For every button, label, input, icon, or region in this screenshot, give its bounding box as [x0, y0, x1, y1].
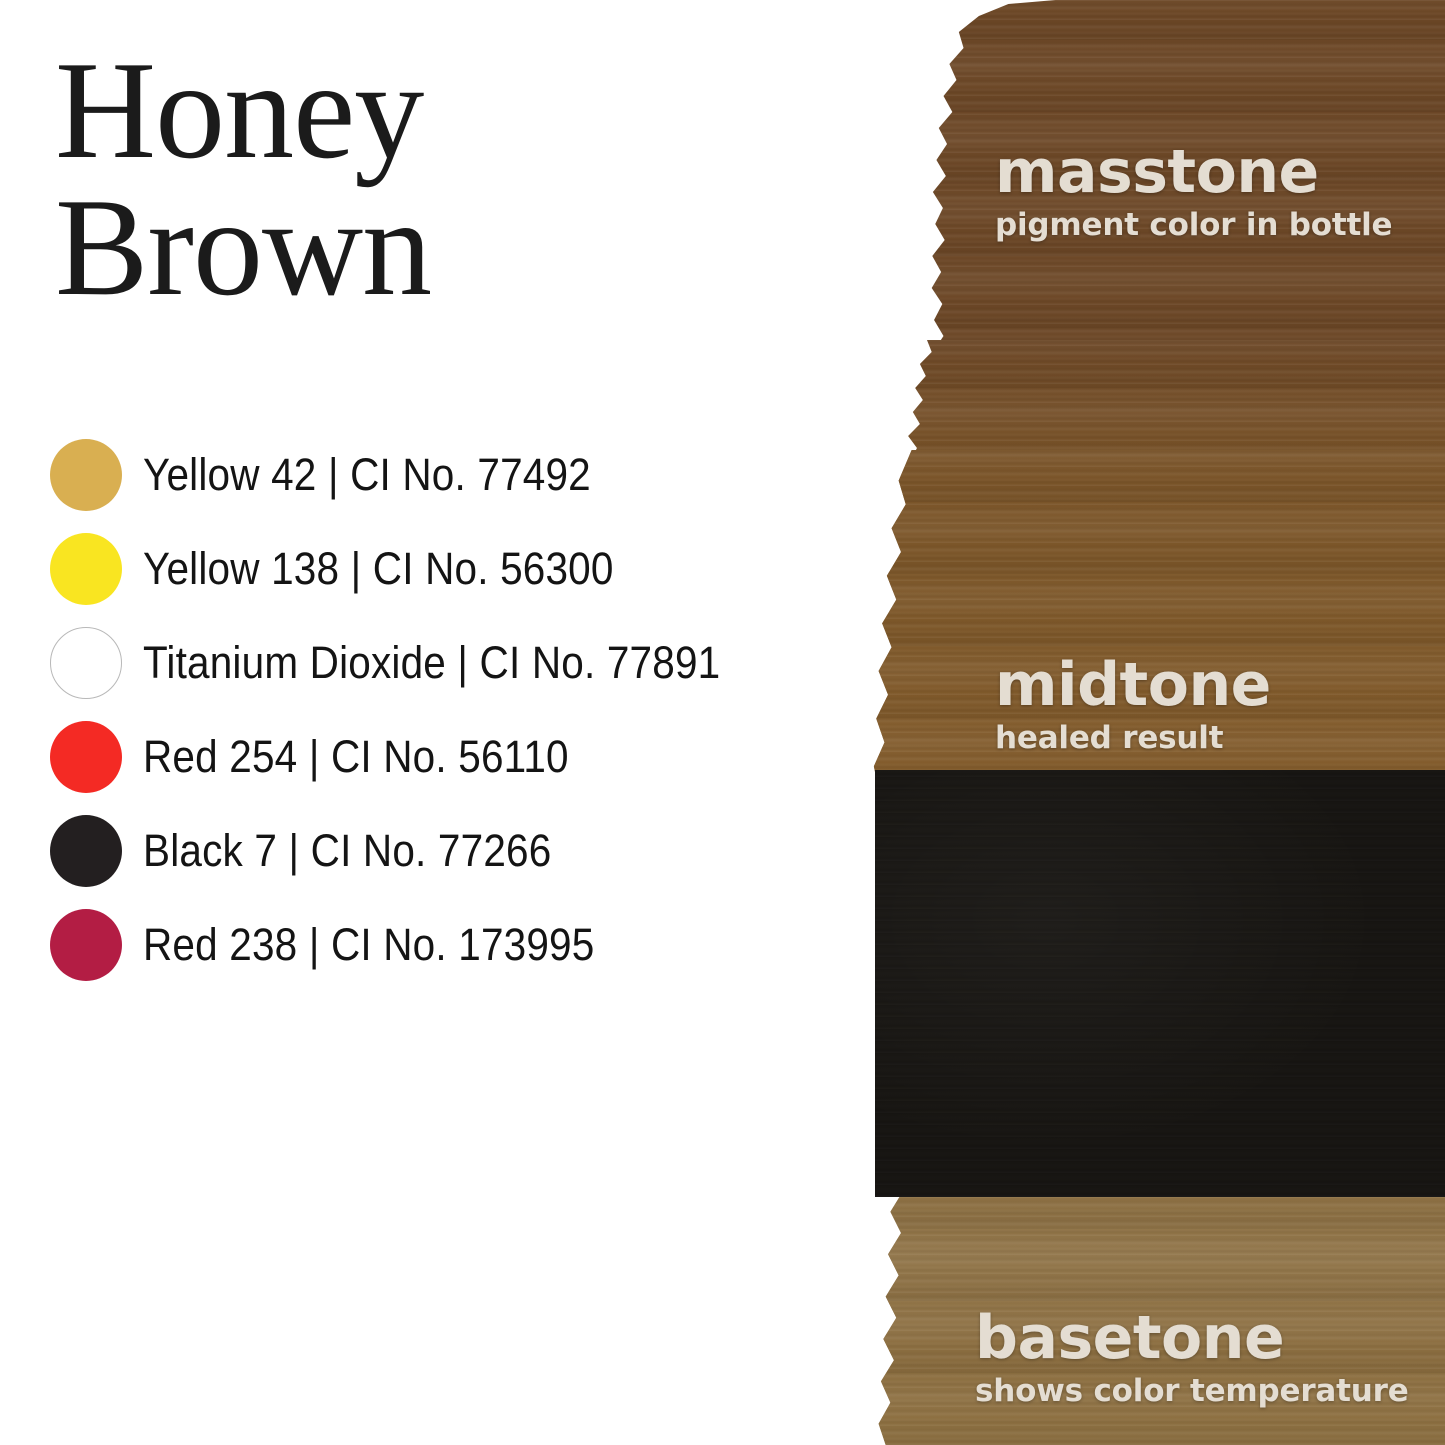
pigment-label: Red 254 | CI No. 56110 — [143, 731, 569, 783]
pigment-row: Red 238 | CI No. 173995 — [0, 898, 870, 992]
pigment-color-dot — [50, 909, 122, 981]
pigment-label: Red 238 | CI No. 173995 — [143, 919, 594, 971]
masstone-subtitle: pigment color in bottle — [995, 208, 1392, 242]
pigment-label: Yellow 42 | CI No. 77492 — [143, 449, 591, 501]
title-line-2: Brown — [55, 179, 755, 316]
pigment-label: Titanium Dioxide | CI No. 77891 — [143, 637, 720, 689]
pigment-list: Yellow 42 | CI No. 77492Yellow 138 | CI … — [0, 428, 870, 992]
masstone-label: masstone pigment color in bottle — [995, 142, 1392, 242]
pigment-color-dot — [50, 627, 122, 699]
pigment-row: Red 254 | CI No. 56110 — [0, 710, 870, 804]
midtone-subtitle: healed result — [995, 721, 1271, 755]
basetone-label: basetone shows color temperature — [975, 1308, 1409, 1408]
tone-transition-swatch — [855, 340, 1445, 460]
basetone-subtitle: shows color temperature — [975, 1374, 1409, 1408]
pigment-row: Yellow 42 | CI No. 77492 — [0, 428, 870, 522]
pigment-color-dot — [50, 815, 122, 887]
black-skin-panel — [875, 770, 1445, 1197]
midtone-title: midtone — [995, 655, 1271, 715]
pigment-color-card: Honey Brown Yellow 42 | CI No. 77492Yell… — [0, 0, 1445, 1445]
pigment-label: Black 7 | CI No. 77266 — [143, 825, 551, 877]
title-line-1: Honey — [55, 42, 755, 179]
info-panel: Honey Brown Yellow 42 | CI No. 77492Yell… — [0, 0, 870, 1445]
basetone-title: basetone — [975, 1308, 1409, 1368]
pigment-row: Titanium Dioxide | CI No. 77891 — [0, 616, 870, 710]
pigment-row: Black 7 | CI No. 77266 — [0, 804, 870, 898]
pigment-label: Yellow 138 | CI No. 56300 — [143, 543, 614, 595]
page-title: Honey Brown — [55, 42, 755, 316]
midtone-label: midtone healed result — [995, 655, 1271, 755]
pigment-color-dot — [50, 533, 122, 605]
pigment-row: Yellow 138 | CI No. 56300 — [0, 522, 870, 616]
pigment-color-dot — [50, 439, 122, 511]
pigment-color-dot — [50, 721, 122, 793]
masstone-title: masstone — [995, 142, 1392, 202]
